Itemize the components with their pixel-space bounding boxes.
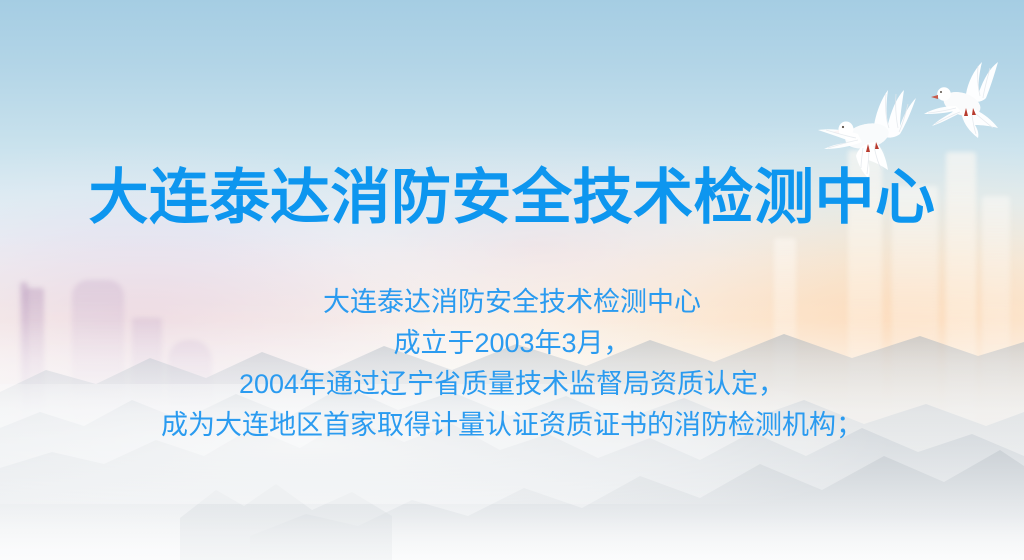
slide-text-content: 大连泰达消防安全技术检测中心 大连泰达消防安全技术检测中心 成立于2003年3月… <box>0 0 1024 560</box>
body-line: 大连泰达消防安全技术检测中心 <box>0 282 1024 323</box>
body-line: 2004年通过辽宁省质量技术监督局资质认定， <box>0 364 1024 405</box>
slide-body-text: 大连泰达消防安全技术检测中心 成立于2003年3月， 2004年通过辽宁省质量技… <box>0 282 1024 446</box>
page-title: 大连泰达消防安全技术检测中心 <box>0 168 1024 228</box>
body-line: 成立于2003年3月， <box>0 323 1024 364</box>
body-line: 成为大连地区首家取得计量认证资质证书的消防检测机构； <box>0 405 1024 446</box>
slide-canvas: 大连泰达消防安全技术检测中心 大连泰达消防安全技术检测中心 成立于2003年3月… <box>0 0 1024 560</box>
